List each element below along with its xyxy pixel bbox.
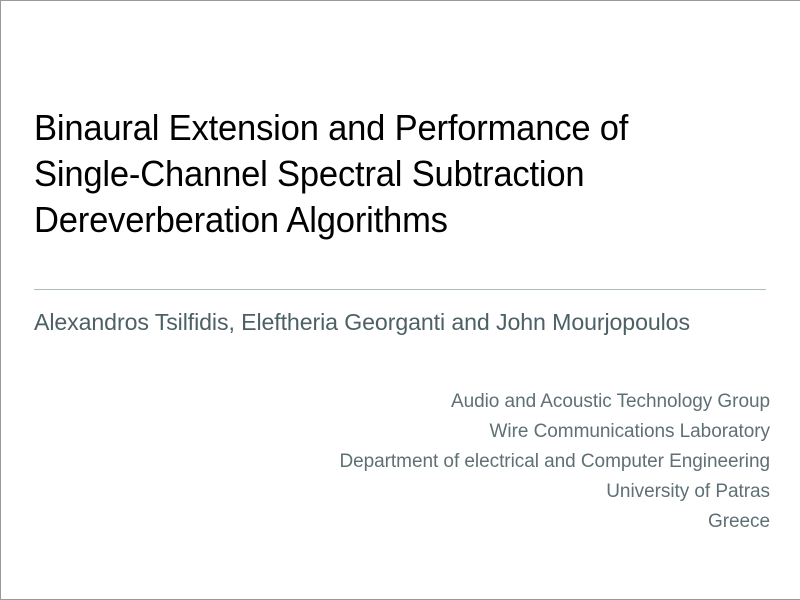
affiliation-block: Audio and Acoustic Technology Group Wire… xyxy=(30,387,770,537)
title-line-3: Dereverberation Algorithms xyxy=(34,197,735,243)
title-line-1: Binaural Extension and Performance of xyxy=(34,105,735,151)
title-line-2: Single-Channel Spectral Subtraction xyxy=(34,151,735,197)
affiliation-line-department: Department of electrical and Computer En… xyxy=(30,447,770,477)
affiliation-line-group: Audio and Acoustic Technology Group xyxy=(30,387,770,417)
affiliation-line-university: University of Patras xyxy=(30,477,770,507)
page-title: Binaural Extension and Performance of Si… xyxy=(34,105,764,243)
affiliation-line-laboratory: Wire Communications Laboratory xyxy=(30,417,770,447)
affiliation-line-country: Greece xyxy=(30,507,770,537)
title-slide: Binaural Extension and Performance of Si… xyxy=(0,0,800,600)
title-divider-rule xyxy=(34,289,766,290)
author-list: Alexandros Tsilfidis, Eleftheria Georgan… xyxy=(34,307,763,337)
